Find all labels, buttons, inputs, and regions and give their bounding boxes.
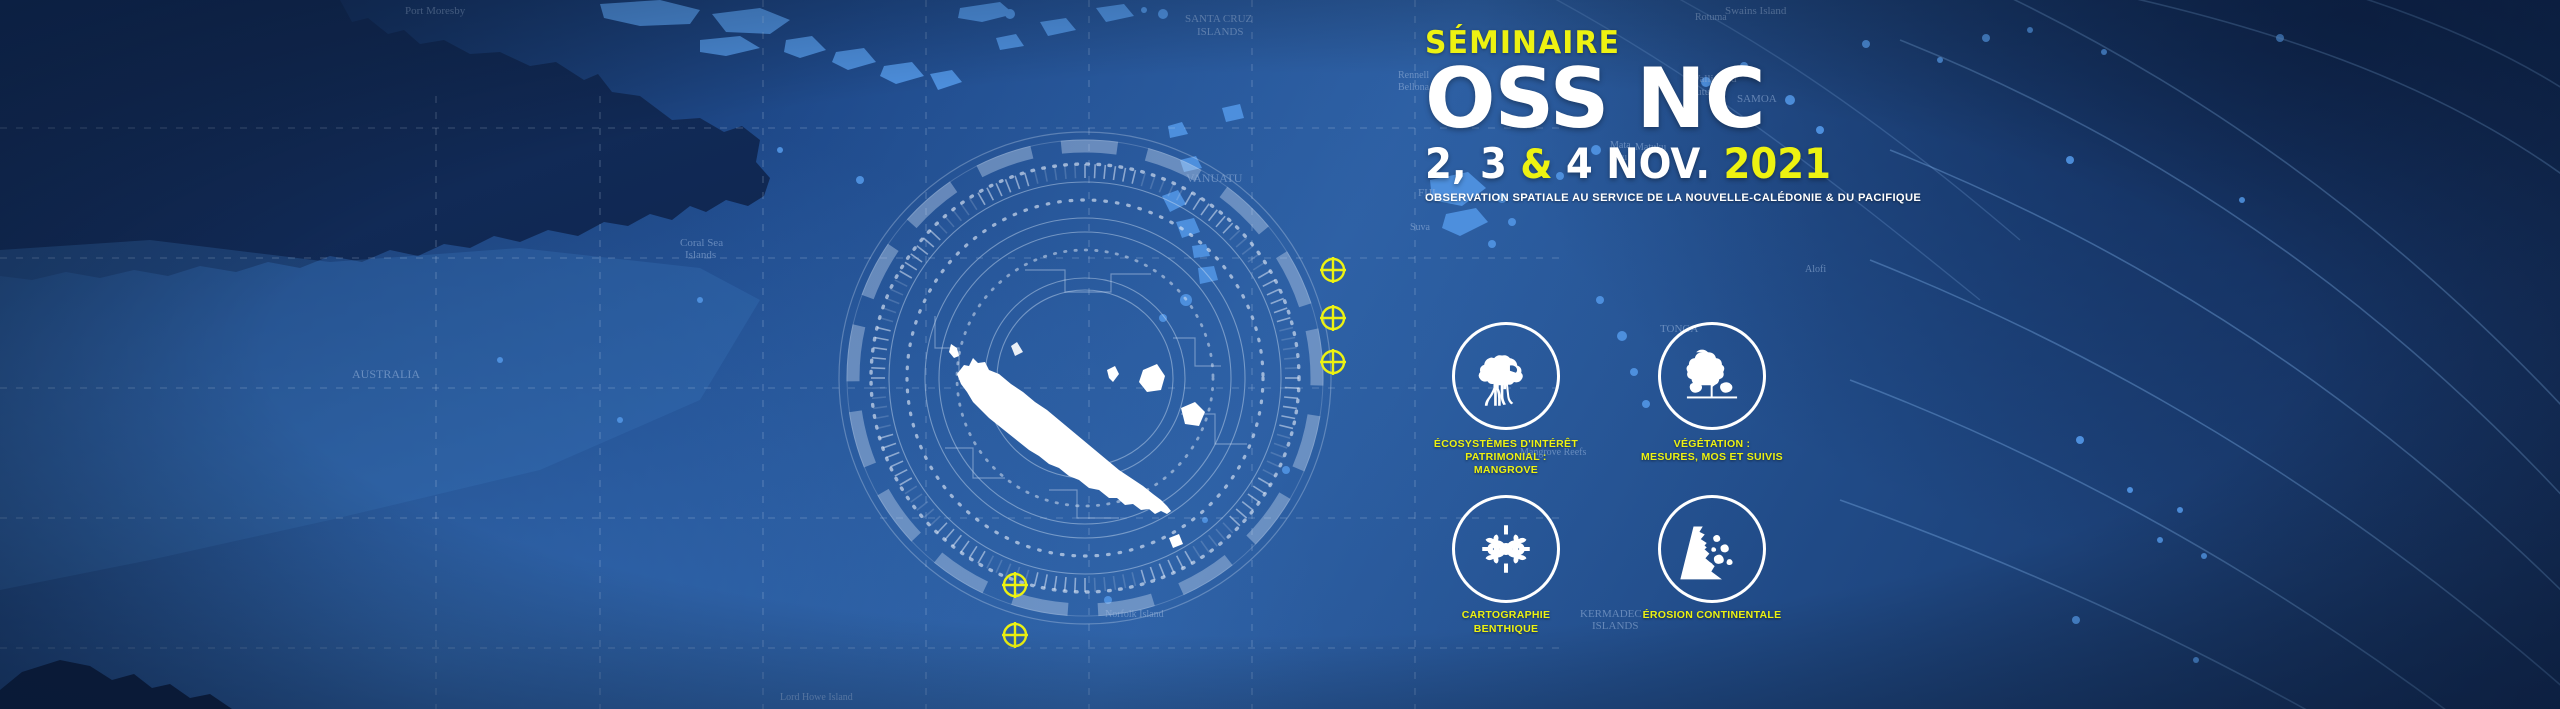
theme-label-line1: ÉROSION CONTINENTALE — [1643, 609, 1782, 621]
date-year: 2021 — [1723, 139, 1831, 188]
headline-block: SÉMINAIRE OSS NC 2, 3 & 4 NOV. 2021 OBSE… — [1425, 28, 1845, 204]
map-layer: Port MoresbySANTA CRUZISLANDSVANUATUCora… — [0, 0, 2560, 709]
date-prefix: 2, 3 — [1425, 139, 1520, 188]
event-dates: 2, 3 & 4 NOV. 2021 — [1425, 143, 1811, 185]
vegetation-tree-icon — [1679, 343, 1745, 409]
theme-icon-disc — [1658, 322, 1766, 430]
theme-continental-erosion: ÉROSION CONTINENTALE — [1638, 495, 1786, 635]
date-mid: 4 NOV. — [1552, 139, 1723, 188]
erosion-cliff-icon — [1679, 516, 1745, 582]
theme-vegetation: VÉGÉTATION : MESURES, MOS ET SUIVIS — [1638, 322, 1786, 477]
mangrove-tree-icon — [1473, 343, 1539, 409]
theme-label-line1: ÉCOSYSTÈMES D'INTÉRÊT PATRIMONIAL : — [1434, 438, 1578, 463]
theme-grid: ÉCOSYSTÈMES D'INTÉRÊT PATRIMONIAL : MANG… — [1432, 322, 1832, 636]
date-ampersand: & — [1520, 142, 1552, 188]
theme-label-line1: CARTOGRAPHIE BENTHIQUE — [1462, 609, 1551, 634]
theme-row-top: ÉCOSYSTÈMES D'INTÉRÊT PATRIMONIAL : MANG… — [1432, 322, 1832, 477]
theme-label: CARTOGRAPHIE BENTHIQUE — [1432, 609, 1580, 635]
theme-label-line2: MESURES, MOS ET SUIVIS — [1641, 451, 1783, 463]
theme-label: VÉGÉTATION : MESURES, MOS ET SUIVIS — [1638, 438, 1786, 464]
coral-icon — [1473, 516, 1539, 582]
oss-nc-banner: Port MoresbySANTA CRUZISLANDSVANUATUCora… — [0, 0, 2560, 709]
theme-label-line1: VÉGÉTATION : — [1674, 438, 1751, 450]
page-title: OSS NC — [1425, 61, 1845, 137]
theme-label: ÉCOSYSTÈMES D'INTÉRÊT PATRIMONIAL : MANG… — [1432, 438, 1580, 477]
theme-mangrove: ÉCOSYSTÈMES D'INTÉRÊT PATRIMONIAL : MANG… — [1432, 322, 1580, 477]
theme-benthic-mapping: CARTOGRAPHIE BENTHIQUE — [1432, 495, 1580, 635]
theme-icon-disc — [1452, 495, 1560, 603]
theme-label: ÉROSION CONTINENTALE — [1638, 609, 1786, 622]
theme-icon-disc — [1452, 322, 1560, 430]
event-subtitle: OBSERVATION SPATIALE AU SERVICE DE LA NO… — [1425, 192, 1845, 204]
eyebrow-seminaire: SÉMINAIRE — [1425, 28, 1828, 59]
theme-icon-disc — [1658, 495, 1766, 603]
theme-label-line2: MANGROVE — [1474, 464, 1538, 476]
theme-row-bottom: CARTOGRAPHIE BENTHIQUE — [1432, 495, 1832, 635]
